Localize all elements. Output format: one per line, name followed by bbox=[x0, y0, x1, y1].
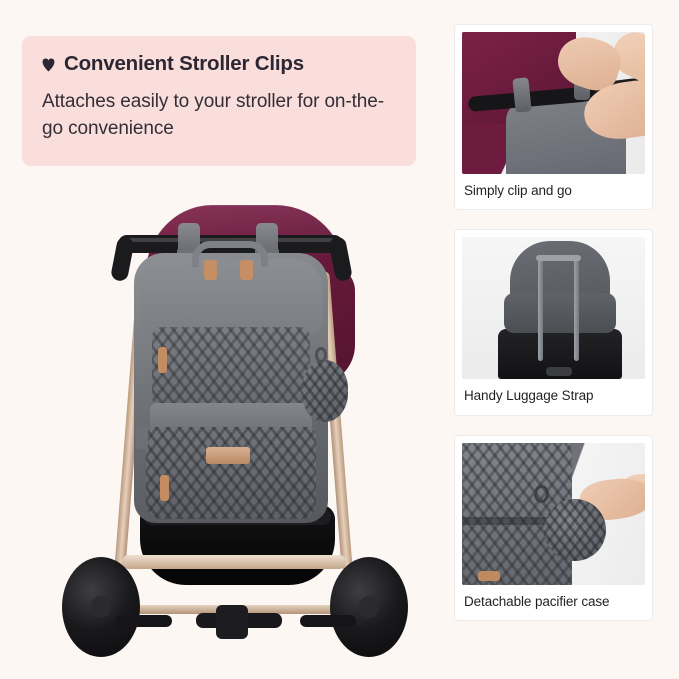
pacifier-case-pod bbox=[302, 360, 348, 422]
pacifier-case-photo bbox=[462, 443, 645, 585]
backpack-woven-bottom-pocket bbox=[146, 427, 316, 519]
left-column: Convenient Stroller Clips Attaches easil… bbox=[0, 0, 442, 679]
backpack-zipper-pull-top bbox=[158, 347, 167, 373]
wheel-hub-right bbox=[359, 596, 379, 618]
pacifier-photo-clip bbox=[534, 485, 549, 503]
backpack-handle-tab-left bbox=[204, 260, 217, 280]
handlebar-left-arm bbox=[110, 236, 135, 282]
feature-cards-column: Simply clip and go Handy Luggage Strap D… bbox=[442, 0, 679, 679]
feature-card-caption: Simply clip and go bbox=[462, 174, 645, 209]
callout-title: Convenient Stroller Clips bbox=[64, 54, 304, 75]
pacifier-photo-leather-tab bbox=[478, 571, 500, 581]
backpack-zipper-pull-bottom bbox=[160, 475, 169, 501]
feature-card-caption: Detachable pacifier case bbox=[462, 585, 645, 620]
callout-body-text: Attaches easily to your stroller for on-… bbox=[42, 88, 396, 143]
clip-and-go-photo bbox=[462, 32, 645, 174]
feature-card-clip-and-go: Simply clip and go bbox=[454, 24, 653, 210]
pacifier-photo-pod bbox=[544, 499, 606, 561]
main-product-photo bbox=[0, 175, 442, 679]
luggage-photo-handle-grip bbox=[546, 367, 572, 376]
clip-photo-buckle-left bbox=[512, 77, 531, 112]
luggage-photo-rail-left bbox=[538, 257, 543, 361]
stroller-axle-left bbox=[116, 615, 172, 627]
backpack-handle-tab-right bbox=[240, 260, 253, 280]
heart-icon bbox=[42, 58, 55, 72]
stroller-axle-joint bbox=[216, 605, 248, 639]
stroller-axle-right bbox=[300, 615, 356, 627]
luggage-photo-rail-top bbox=[536, 255, 581, 261]
feature-card-luggage-strap: Handy Luggage Strap bbox=[454, 229, 653, 415]
pacifier-case-clip bbox=[315, 347, 327, 363]
luggage-strap-photo bbox=[462, 237, 645, 379]
wheel-hub-left bbox=[91, 596, 111, 618]
feature-card-caption: Handy Luggage Strap bbox=[462, 379, 645, 414]
backpack-top-panel bbox=[140, 259, 322, 335]
backpack-side-strap bbox=[136, 425, 148, 449]
feature-card-pacifier-case: Detachable pacifier case bbox=[454, 435, 653, 621]
stroller-frame-crossbar bbox=[122, 555, 346, 569]
luggage-photo-strap-sleeve bbox=[504, 293, 616, 333]
feature-callout-box: Convenient Stroller Clips Attaches easil… bbox=[22, 36, 416, 166]
backpack-logo-plate bbox=[206, 447, 250, 464]
backpack-woven-front-pocket bbox=[152, 327, 310, 407]
luggage-photo-rail-right bbox=[574, 257, 579, 361]
callout-heading-row: Convenient Stroller Clips bbox=[42, 54, 396, 75]
